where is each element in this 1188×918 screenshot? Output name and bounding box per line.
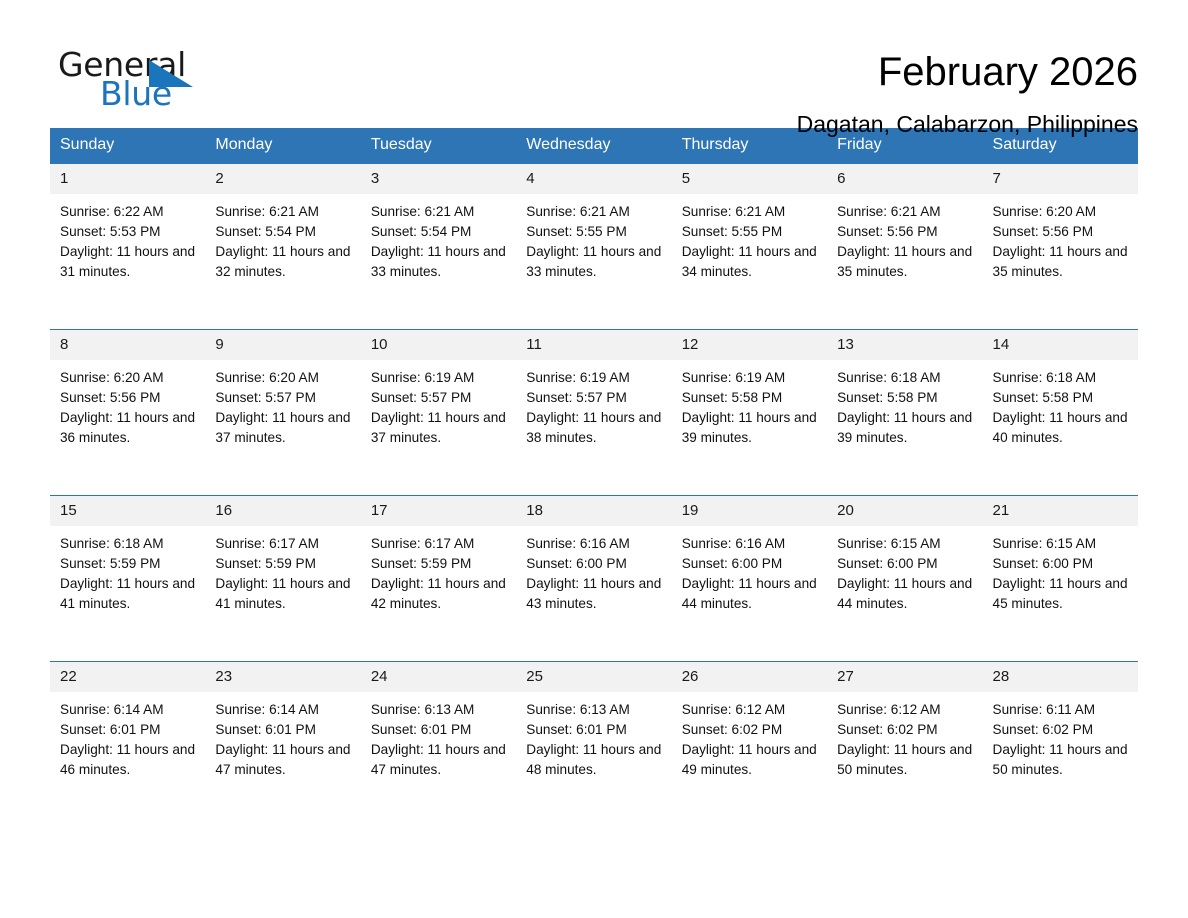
day-number: 22 bbox=[50, 662, 205, 692]
day-info: Sunrise: 6:21 AM Sunset: 5:55 PM Dayligh… bbox=[516, 194, 671, 282]
daylight-text: Daylight: 11 hours and 38 minutes. bbox=[526, 408, 661, 448]
sunrise-text: Sunrise: 6:13 AM bbox=[371, 700, 506, 720]
sunrise-text: Sunrise: 6:16 AM bbox=[526, 534, 661, 554]
sunrise-text: Sunrise: 6:17 AM bbox=[215, 534, 350, 554]
day-number: 23 bbox=[205, 662, 360, 692]
sunrise-text: Sunrise: 6:20 AM bbox=[215, 368, 350, 388]
day-number: 7 bbox=[983, 164, 1138, 194]
day-info: Sunrise: 6:14 AM Sunset: 6:01 PM Dayligh… bbox=[50, 692, 205, 780]
daylight-text: Daylight: 11 hours and 44 minutes. bbox=[837, 574, 972, 614]
sunrise-text: Sunrise: 6:20 AM bbox=[60, 368, 195, 388]
day-info: Sunrise: 6:16 AM Sunset: 6:00 PM Dayligh… bbox=[672, 526, 827, 614]
day-info: Sunrise: 6:13 AM Sunset: 6:01 PM Dayligh… bbox=[361, 692, 516, 780]
day-info: Sunrise: 6:14 AM Sunset: 6:01 PM Dayligh… bbox=[205, 692, 360, 780]
day-cell[interactable]: 12 Sunrise: 6:19 AM Sunset: 5:58 PM Dayl… bbox=[672, 329, 827, 495]
day-cell[interactable]: 11 Sunrise: 6:19 AM Sunset: 5:57 PM Dayl… bbox=[516, 329, 671, 495]
day-cell[interactable]: 18 Sunrise: 6:16 AM Sunset: 6:00 PM Dayl… bbox=[516, 495, 671, 661]
daylight-text: Daylight: 11 hours and 34 minutes. bbox=[682, 242, 817, 282]
daylight-text: Daylight: 11 hours and 50 minutes. bbox=[837, 740, 972, 780]
page-title: February 2026 bbox=[250, 48, 1138, 96]
day-info: Sunrise: 6:12 AM Sunset: 6:02 PM Dayligh… bbox=[827, 692, 982, 780]
daylight-text: Daylight: 11 hours and 37 minutes. bbox=[371, 408, 506, 448]
sunset-text: Sunset: 5:57 PM bbox=[215, 388, 350, 408]
day-number: 18 bbox=[516, 496, 671, 526]
day-info: Sunrise: 6:15 AM Sunset: 6:00 PM Dayligh… bbox=[983, 526, 1138, 614]
day-info: Sunrise: 6:19 AM Sunset: 5:57 PM Dayligh… bbox=[361, 360, 516, 448]
day-number: 13 bbox=[827, 330, 982, 360]
sunset-text: Sunset: 6:01 PM bbox=[526, 720, 661, 740]
day-info: Sunrise: 6:21 AM Sunset: 5:54 PM Dayligh… bbox=[361, 194, 516, 282]
day-cell[interactable]: 14 Sunrise: 6:18 AM Sunset: 5:58 PM Dayl… bbox=[983, 329, 1138, 495]
logo-text-blue: Blue bbox=[100, 75, 172, 113]
day-number: 11 bbox=[516, 330, 671, 360]
day-info: Sunrise: 6:13 AM Sunset: 6:01 PM Dayligh… bbox=[516, 692, 671, 780]
sunrise-text: Sunrise: 6:11 AM bbox=[993, 700, 1128, 720]
sunrise-text: Sunrise: 6:22 AM bbox=[60, 202, 195, 222]
sunset-text: Sunset: 5:59 PM bbox=[371, 554, 506, 574]
sunrise-text: Sunrise: 6:21 AM bbox=[682, 202, 817, 222]
day-info: Sunrise: 6:19 AM Sunset: 5:57 PM Dayligh… bbox=[516, 360, 671, 448]
daylight-text: Daylight: 11 hours and 49 minutes. bbox=[682, 740, 817, 780]
daylight-text: Daylight: 11 hours and 45 minutes. bbox=[993, 574, 1128, 614]
sunset-text: Sunset: 6:00 PM bbox=[682, 554, 817, 574]
daylight-text: Daylight: 11 hours and 41 minutes. bbox=[215, 574, 350, 614]
sunset-text: Sunset: 6:00 PM bbox=[837, 554, 972, 574]
sunset-text: Sunset: 5:53 PM bbox=[60, 222, 195, 242]
calendar-body: 1 Sunrise: 6:22 AM Sunset: 5:53 PM Dayli… bbox=[50, 163, 1138, 827]
sunrise-text: Sunrise: 6:17 AM bbox=[371, 534, 506, 554]
sunrise-text: Sunrise: 6:20 AM bbox=[993, 202, 1128, 222]
day-cell[interactable]: 8 Sunrise: 6:20 AM Sunset: 5:56 PM Dayli… bbox=[50, 329, 205, 495]
day-info: Sunrise: 6:16 AM Sunset: 6:00 PM Dayligh… bbox=[516, 526, 671, 614]
sunrise-text: Sunrise: 6:15 AM bbox=[993, 534, 1128, 554]
daylight-text: Daylight: 11 hours and 50 minutes. bbox=[993, 740, 1128, 780]
day-number: 24 bbox=[361, 662, 516, 692]
sunset-text: Sunset: 5:55 PM bbox=[526, 222, 661, 242]
day-cell[interactable]: 1 Sunrise: 6:22 AM Sunset: 5:53 PM Dayli… bbox=[50, 163, 205, 329]
day-info: Sunrise: 6:21 AM Sunset: 5:55 PM Dayligh… bbox=[672, 194, 827, 282]
daylight-text: Daylight: 11 hours and 46 minutes. bbox=[60, 740, 195, 780]
sunrise-text: Sunrise: 6:18 AM bbox=[60, 534, 195, 554]
day-info: Sunrise: 6:11 AM Sunset: 6:02 PM Dayligh… bbox=[983, 692, 1138, 780]
day-cell[interactable]: 17 Sunrise: 6:17 AM Sunset: 5:59 PM Dayl… bbox=[361, 495, 516, 661]
daylight-text: Daylight: 11 hours and 42 minutes. bbox=[371, 574, 506, 614]
daylight-text: Daylight: 11 hours and 40 minutes. bbox=[993, 408, 1128, 448]
day-number: 16 bbox=[205, 496, 360, 526]
daylight-text: Daylight: 11 hours and 47 minutes. bbox=[371, 740, 506, 780]
day-number: 6 bbox=[827, 164, 982, 194]
day-cell[interactable]: 3 Sunrise: 6:21 AM Sunset: 5:54 PM Dayli… bbox=[361, 163, 516, 329]
sunrise-text: Sunrise: 6:21 AM bbox=[526, 202, 661, 222]
day-number: 9 bbox=[205, 330, 360, 360]
sunset-text: Sunset: 6:01 PM bbox=[60, 720, 195, 740]
day-cell[interactable]: 13 Sunrise: 6:18 AM Sunset: 5:58 PM Dayl… bbox=[827, 329, 982, 495]
daylight-text: Daylight: 11 hours and 36 minutes. bbox=[60, 408, 195, 448]
day-info: Sunrise: 6:17 AM Sunset: 5:59 PM Dayligh… bbox=[205, 526, 360, 614]
day-number: 5 bbox=[672, 164, 827, 194]
day-number: 10 bbox=[361, 330, 516, 360]
day-cell[interactable]: 10 Sunrise: 6:19 AM Sunset: 5:57 PM Dayl… bbox=[361, 329, 516, 495]
sunset-text: Sunset: 5:57 PM bbox=[526, 388, 661, 408]
title-block: February 2026 Dagatan, Calabarzon, Phili… bbox=[250, 46, 1138, 138]
day-number: 2 bbox=[205, 164, 360, 194]
day-number: 20 bbox=[827, 496, 982, 526]
day-info: Sunrise: 6:18 AM Sunset: 5:58 PM Dayligh… bbox=[827, 360, 982, 448]
day-info: Sunrise: 6:21 AM Sunset: 5:56 PM Dayligh… bbox=[827, 194, 982, 282]
sunrise-text: Sunrise: 6:16 AM bbox=[682, 534, 817, 554]
day-info: Sunrise: 6:12 AM Sunset: 6:02 PM Dayligh… bbox=[672, 692, 827, 780]
day-number: 12 bbox=[672, 330, 827, 360]
day-cell[interactable]: 4 Sunrise: 6:21 AM Sunset: 5:55 PM Dayli… bbox=[516, 163, 671, 329]
sunrise-text: Sunrise: 6:14 AM bbox=[215, 700, 350, 720]
day-number: 19 bbox=[672, 496, 827, 526]
page-header: General Blue February 2026 Dagatan, Cala… bbox=[50, 0, 1138, 104]
sunset-text: Sunset: 5:55 PM bbox=[682, 222, 817, 242]
day-cell[interactable]: 27 Sunrise: 6:12 AM Sunset: 6:02 PM Dayl… bbox=[827, 661, 982, 827]
day-cell[interactable]: 21 Sunrise: 6:15 AM Sunset: 6:00 PM Dayl… bbox=[983, 495, 1138, 661]
day-info: Sunrise: 6:20 AM Sunset: 5:56 PM Dayligh… bbox=[983, 194, 1138, 282]
day-info: Sunrise: 6:21 AM Sunset: 5:54 PM Dayligh… bbox=[205, 194, 360, 282]
day-cell[interactable]: 16 Sunrise: 6:17 AM Sunset: 5:59 PM Dayl… bbox=[205, 495, 360, 661]
sunrise-text: Sunrise: 6:14 AM bbox=[60, 700, 195, 720]
day-number: 1 bbox=[50, 164, 205, 194]
day-number: 28 bbox=[983, 662, 1138, 692]
daylight-text: Daylight: 11 hours and 35 minutes. bbox=[837, 242, 972, 282]
day-info: Sunrise: 6:15 AM Sunset: 6:00 PM Dayligh… bbox=[827, 526, 982, 614]
sunset-text: Sunset: 5:58 PM bbox=[837, 388, 972, 408]
day-cell[interactable]: 7 Sunrise: 6:20 AM Sunset: 5:56 PM Dayli… bbox=[983, 163, 1138, 329]
day-number: 25 bbox=[516, 662, 671, 692]
daylight-text: Daylight: 11 hours and 44 minutes. bbox=[682, 574, 817, 614]
sunrise-text: Sunrise: 6:21 AM bbox=[371, 202, 506, 222]
sunset-text: Sunset: 6:02 PM bbox=[682, 720, 817, 740]
daylight-text: Daylight: 11 hours and 48 minutes. bbox=[526, 740, 661, 780]
general-blue-logo[interactable]: General Blue bbox=[50, 46, 250, 118]
calendar-week-row: 1 Sunrise: 6:22 AM Sunset: 5:53 PM Dayli… bbox=[50, 163, 1138, 329]
sunset-text: Sunset: 6:00 PM bbox=[993, 554, 1128, 574]
day-info: Sunrise: 6:22 AM Sunset: 5:53 PM Dayligh… bbox=[50, 194, 205, 282]
sunset-text: Sunset: 5:56 PM bbox=[837, 222, 972, 242]
day-cell[interactable]: 6 Sunrise: 6:21 AM Sunset: 5:56 PM Dayli… bbox=[827, 163, 982, 329]
day-info: Sunrise: 6:20 AM Sunset: 5:57 PM Dayligh… bbox=[205, 360, 360, 448]
day-info: Sunrise: 6:20 AM Sunset: 5:56 PM Dayligh… bbox=[50, 360, 205, 448]
sunset-text: Sunset: 5:59 PM bbox=[60, 554, 195, 574]
day-info: Sunrise: 6:18 AM Sunset: 5:58 PM Dayligh… bbox=[983, 360, 1138, 448]
sunrise-text: Sunrise: 6:21 AM bbox=[215, 202, 350, 222]
sunrise-text: Sunrise: 6:13 AM bbox=[526, 700, 661, 720]
daylight-text: Daylight: 11 hours and 39 minutes. bbox=[837, 408, 972, 448]
daylight-text: Daylight: 11 hours and 33 minutes. bbox=[526, 242, 661, 282]
day-cell[interactable]: 20 Sunrise: 6:15 AM Sunset: 6:00 PM Dayl… bbox=[827, 495, 982, 661]
sunset-text: Sunset: 6:02 PM bbox=[837, 720, 972, 740]
page-subtitle: Dagatan, Calabarzon, Philippines bbox=[250, 110, 1138, 138]
daylight-text: Daylight: 11 hours and 47 minutes. bbox=[215, 740, 350, 780]
day-info: Sunrise: 6:18 AM Sunset: 5:59 PM Dayligh… bbox=[50, 526, 205, 614]
day-number: 26 bbox=[672, 662, 827, 692]
sunrise-text: Sunrise: 6:18 AM bbox=[837, 368, 972, 388]
sunset-text: Sunset: 6:01 PM bbox=[215, 720, 350, 740]
sunrise-text: Sunrise: 6:19 AM bbox=[371, 368, 506, 388]
daylight-text: Daylight: 11 hours and 43 minutes. bbox=[526, 574, 661, 614]
day-cell[interactable]: 26 Sunrise: 6:12 AM Sunset: 6:02 PM Dayl… bbox=[672, 661, 827, 827]
daylight-text: Daylight: 11 hours and 32 minutes. bbox=[215, 242, 350, 282]
sunset-text: Sunset: 6:02 PM bbox=[993, 720, 1128, 740]
day-number: 21 bbox=[983, 496, 1138, 526]
calendar-week-row: 8 Sunrise: 6:20 AM Sunset: 5:56 PM Dayli… bbox=[50, 329, 1138, 495]
calendar-week-row: 22 Sunrise: 6:14 AM Sunset: 6:01 PM Dayl… bbox=[50, 661, 1138, 827]
daylight-text: Daylight: 11 hours and 33 minutes. bbox=[371, 242, 506, 282]
day-cell[interactable]: 19 Sunrise: 6:16 AM Sunset: 6:00 PM Dayl… bbox=[672, 495, 827, 661]
sunrise-text: Sunrise: 6:12 AM bbox=[837, 700, 972, 720]
day-cell[interactable]: 25 Sunrise: 6:13 AM Sunset: 6:01 PM Dayl… bbox=[516, 661, 671, 827]
sunset-text: Sunset: 5:58 PM bbox=[993, 388, 1128, 408]
day-cell[interactable]: 28 Sunrise: 6:11 AM Sunset: 6:02 PM Dayl… bbox=[983, 661, 1138, 827]
daylight-text: Daylight: 11 hours and 31 minutes. bbox=[60, 242, 195, 282]
sunrise-text: Sunrise: 6:15 AM bbox=[837, 534, 972, 554]
calendar-table: Sunday Monday Tuesday Wednesday Thursday… bbox=[50, 128, 1138, 827]
day-cell[interactable]: 2 Sunrise: 6:21 AM Sunset: 5:54 PM Dayli… bbox=[205, 163, 360, 329]
sunrise-text: Sunrise: 6:21 AM bbox=[837, 202, 972, 222]
day-cell[interactable]: 22 Sunrise: 6:14 AM Sunset: 6:01 PM Dayl… bbox=[50, 661, 205, 827]
calendar-week-row: 15 Sunrise: 6:18 AM Sunset: 5:59 PM Dayl… bbox=[50, 495, 1138, 661]
sunrise-text: Sunrise: 6:12 AM bbox=[682, 700, 817, 720]
day-number: 15 bbox=[50, 496, 205, 526]
sunset-text: Sunset: 5:57 PM bbox=[371, 388, 506, 408]
sunrise-text: Sunrise: 6:19 AM bbox=[682, 368, 817, 388]
day-info: Sunrise: 6:19 AM Sunset: 5:58 PM Dayligh… bbox=[672, 360, 827, 448]
sunset-text: Sunset: 5:54 PM bbox=[215, 222, 350, 242]
day-cell[interactable]: 5 Sunrise: 6:21 AM Sunset: 5:55 PM Dayli… bbox=[672, 163, 827, 329]
daylight-text: Daylight: 11 hours and 35 minutes. bbox=[993, 242, 1128, 282]
day-number: 14 bbox=[983, 330, 1138, 360]
day-number: 27 bbox=[827, 662, 982, 692]
sunrise-text: Sunrise: 6:19 AM bbox=[526, 368, 661, 388]
day-info: Sunrise: 6:17 AM Sunset: 5:59 PM Dayligh… bbox=[361, 526, 516, 614]
day-number: 4 bbox=[516, 164, 671, 194]
day-cell[interactable]: 15 Sunrise: 6:18 AM Sunset: 5:59 PM Dayl… bbox=[50, 495, 205, 661]
sunset-text: Sunset: 6:00 PM bbox=[526, 554, 661, 574]
day-number: 8 bbox=[50, 330, 205, 360]
sunset-text: Sunset: 5:56 PM bbox=[993, 222, 1128, 242]
day-cell[interactable]: 9 Sunrise: 6:20 AM Sunset: 5:57 PM Dayli… bbox=[205, 329, 360, 495]
calendar-page: General Blue February 2026 Dagatan, Cala… bbox=[0, 0, 1188, 918]
sunset-text: Sunset: 5:54 PM bbox=[371, 222, 506, 242]
daylight-text: Daylight: 11 hours and 37 minutes. bbox=[215, 408, 350, 448]
sunset-text: Sunset: 6:01 PM bbox=[371, 720, 506, 740]
day-number: 3 bbox=[361, 164, 516, 194]
day-number: 17 bbox=[361, 496, 516, 526]
day-cell[interactable]: 23 Sunrise: 6:14 AM Sunset: 6:01 PM Dayl… bbox=[205, 661, 360, 827]
sunset-text: Sunset: 5:59 PM bbox=[215, 554, 350, 574]
sunset-text: Sunset: 5:56 PM bbox=[60, 388, 195, 408]
daylight-text: Daylight: 11 hours and 41 minutes. bbox=[60, 574, 195, 614]
sunset-text: Sunset: 5:58 PM bbox=[682, 388, 817, 408]
weekday-header-sunday: Sunday bbox=[50, 128, 205, 163]
sunrise-text: Sunrise: 6:18 AM bbox=[993, 368, 1128, 388]
daylight-text: Daylight: 11 hours and 39 minutes. bbox=[682, 408, 817, 448]
day-cell[interactable]: 24 Sunrise: 6:13 AM Sunset: 6:01 PM Dayl… bbox=[361, 661, 516, 827]
